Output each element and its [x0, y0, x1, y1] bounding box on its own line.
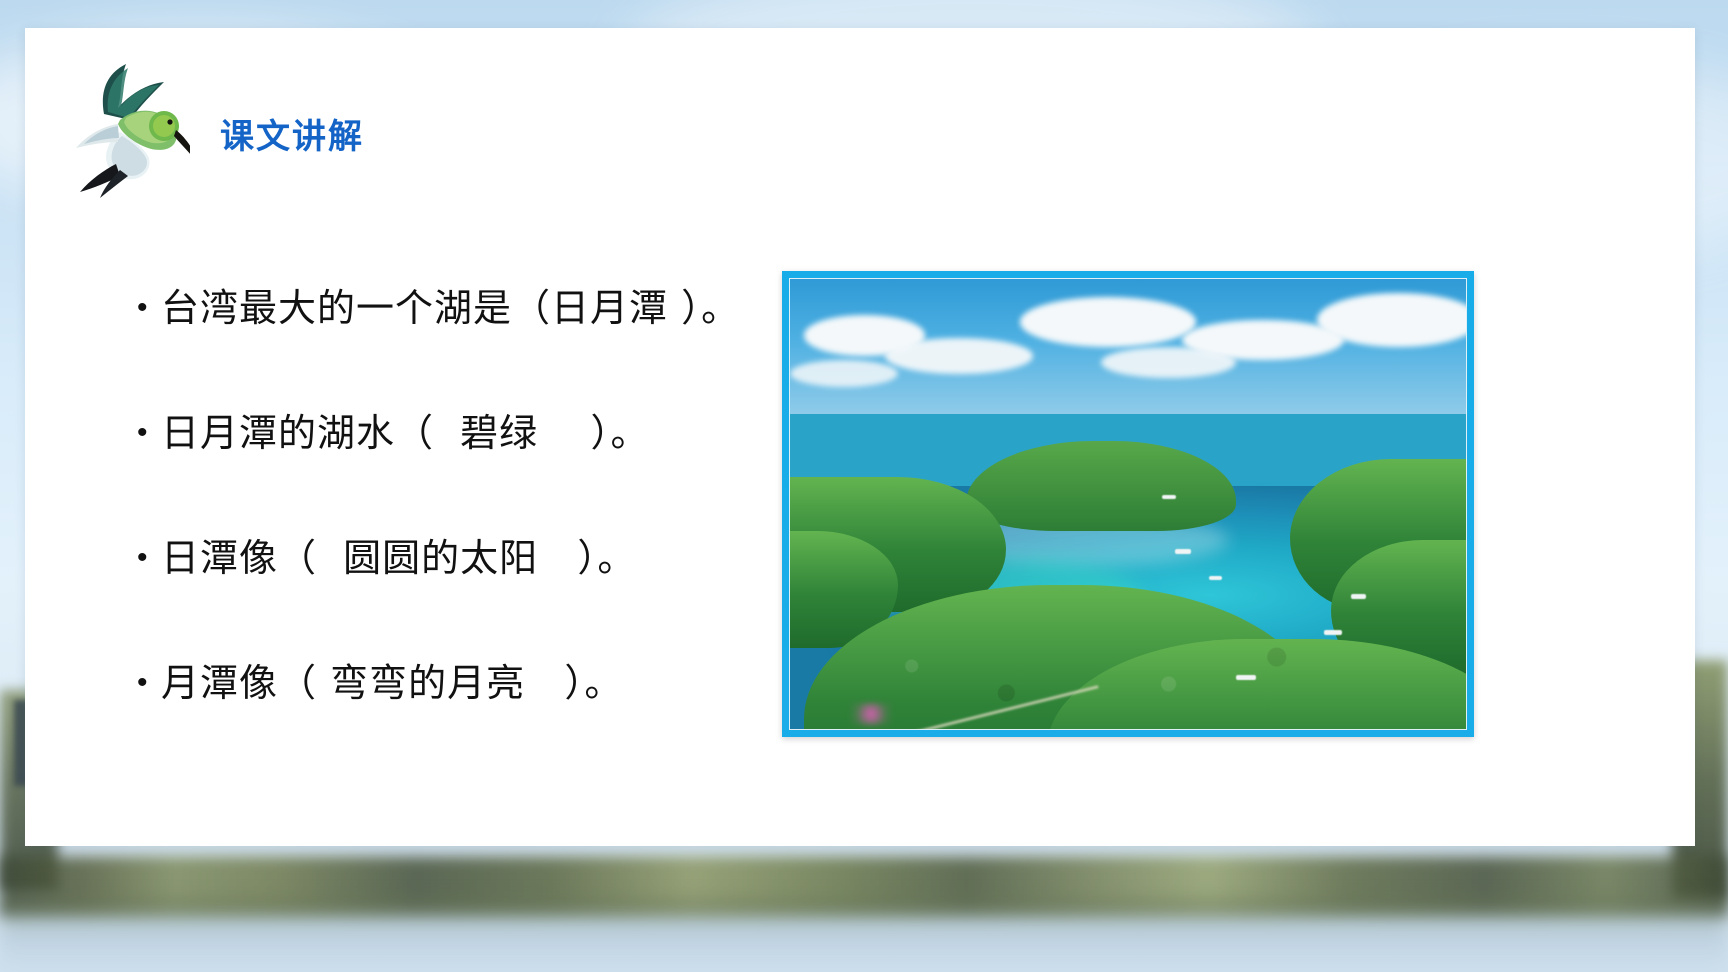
bullet-point-icon: •: [135, 651, 161, 715]
list-item: • 月潭像（ 弯弯的月亮 ）。: [135, 651, 785, 776]
photo-cloud: [1020, 297, 1196, 347]
bullet-list: • 台湾最大的一个湖是（日月潭 ）。 • 日月潭的湖水（ 碧绿 ）。 • 日潭像…: [135, 276, 785, 776]
photo-boat: [1351, 594, 1366, 599]
photo-boat: [1175, 549, 1191, 554]
photo-cloud: [1101, 347, 1236, 379]
list-item: • 日潭像（ 圆圆的太阳 ）。: [135, 526, 785, 651]
content-card: 课文讲解 • 台湾最大的一个湖是（日月潭 ）。 • 日月潭的湖水（ 碧绿 ）。 …: [25, 28, 1695, 846]
background-water-reflection: [0, 900, 1728, 972]
photo-boat: [1209, 576, 1222, 580]
list-item: • 台湾最大的一个湖是（日月潭 ）。: [135, 276, 785, 401]
bullet-point-icon: •: [135, 526, 161, 590]
photo-boat: [1324, 630, 1342, 635]
photo-boat: [1236, 675, 1256, 680]
photo-cloud: [885, 338, 1034, 374]
list-item: • 日月潭的湖水（ 碧绿 ）。: [135, 401, 785, 526]
slide: 课文讲解 • 台湾最大的一个湖是（日月潭 ）。 • 日月潭的湖水（ 碧绿 ）。 …: [0, 0, 1728, 972]
photo-cloud: [790, 360, 898, 387]
photo-flowers: [851, 703, 891, 725]
list-item-text: 台湾最大的一个湖是（日月潭 ）。: [161, 276, 740, 340]
photo-island: [966, 441, 1236, 531]
list-item-text: 日月潭的湖水（ 碧绿 ）。: [161, 401, 649, 465]
photo-boat: [1162, 495, 1176, 499]
hummingbird-icon: [60, 58, 190, 198]
list-item-text: 月潭像（ 弯弯的月亮 ）。: [161, 651, 623, 715]
slide-header: 课文讲解: [25, 28, 1695, 193]
photo-frame: [782, 271, 1474, 737]
list-item-text: 日潭像（ 圆圆的太阳 ）。: [161, 526, 636, 590]
bullet-point-icon: •: [135, 401, 161, 465]
page-title: 课文讲解: [220, 120, 364, 154]
bullet-point-icon: •: [135, 276, 161, 340]
lake-photo: [789, 278, 1467, 730]
photo-cloud: [1317, 293, 1467, 347]
